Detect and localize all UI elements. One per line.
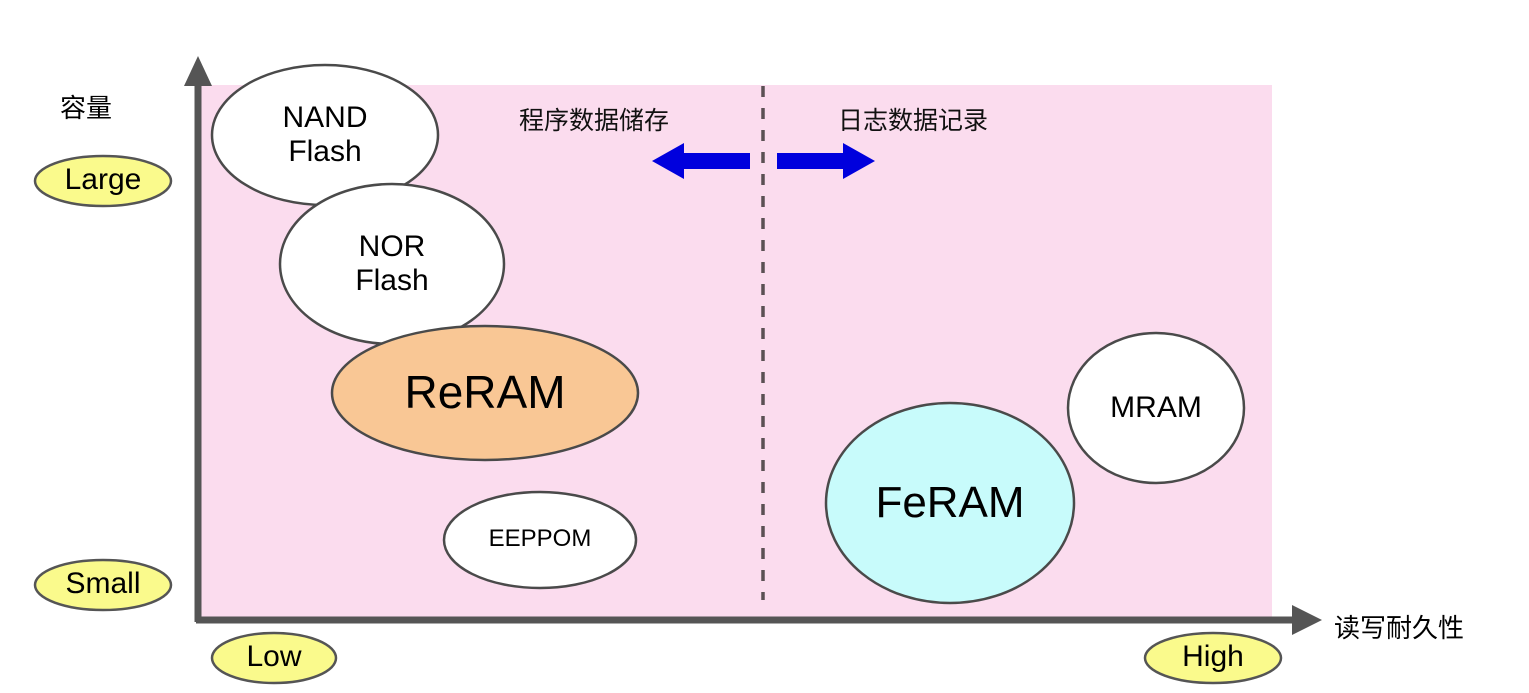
zone-label-program-data-storage: 程序数据储存 bbox=[519, 101, 669, 137]
y-axis-title: 容量 bbox=[60, 88, 112, 125]
node-label-reram: ReRAM bbox=[332, 367, 638, 419]
x-axis-title: 读写耐久性 bbox=[1334, 608, 1464, 645]
x-axis-tick-label-low: Low bbox=[212, 640, 336, 674]
y-axis-tick-label-large: Large bbox=[35, 163, 171, 197]
y-axis-tick-label-small: Small bbox=[35, 567, 171, 601]
node-label-mram: MRAM bbox=[1068, 391, 1244, 425]
node-label-nor-flash: NOR Flash bbox=[280, 230, 504, 297]
node-label-eeppom: EEPPOM bbox=[444, 526, 636, 553]
zone-label-log-data-recording: 日志数据记录 bbox=[838, 101, 988, 137]
x-axis-tick-label-high: High bbox=[1145, 640, 1281, 674]
node-label-feram: FeRAM bbox=[826, 478, 1074, 527]
node-label-nand-flash: NAND Flash bbox=[212, 101, 438, 168]
diagram-canvas: 容量 读写耐久性 程序数据储存 日志数据记录 Large Small Low H… bbox=[0, 0, 1529, 693]
